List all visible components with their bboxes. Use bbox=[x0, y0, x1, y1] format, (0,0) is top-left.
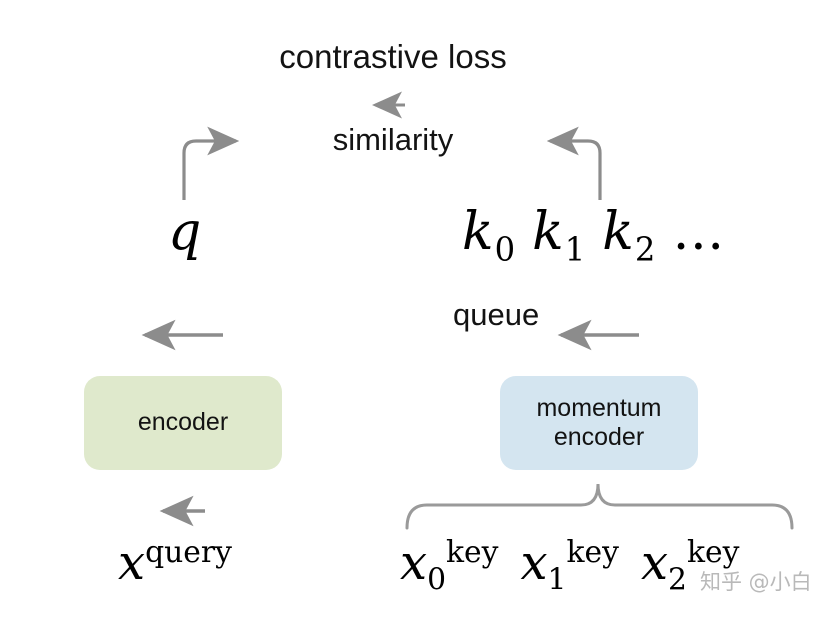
momentum-encoder-line-1: momentum bbox=[536, 394, 661, 424]
key-item-1: k1 bbox=[532, 202, 586, 262]
x-query-superscript: query bbox=[145, 535, 232, 570]
momentum-encoder-line-2: encoder bbox=[536, 423, 661, 453]
queue-label: queue bbox=[453, 299, 539, 330]
similarity-label: similarity bbox=[0, 124, 786, 155]
q-symbol: q bbox=[168, 206, 201, 258]
x-key-item-0: x0key bbox=[400, 535, 498, 591]
diagram-canvas: contrastive loss similarity q k0k1k2… qu… bbox=[0, 0, 826, 634]
encoder-box[interactable]: encoder bbox=[84, 376, 282, 470]
contrastive-loss-label: contrastive loss bbox=[0, 40, 786, 73]
key-ellipsis: … bbox=[672, 202, 725, 262]
key-item-0: k0 bbox=[462, 202, 516, 262]
momentum-encoder-box[interactable]: momentum encoder bbox=[500, 376, 698, 470]
x-key-item-1: x1key bbox=[520, 535, 618, 591]
x-query-symbol: xquery bbox=[118, 538, 232, 587]
key-inputs-brace bbox=[407, 484, 792, 528]
key-list: k0k1k2… bbox=[462, 206, 725, 266]
momentum-encoder-box-label: momentum encoder bbox=[536, 394, 661, 453]
key-item-2: k2 bbox=[602, 202, 656, 262]
encoder-box-label: encoder bbox=[138, 408, 228, 438]
watermark: 知乎 @小白 bbox=[700, 566, 812, 596]
